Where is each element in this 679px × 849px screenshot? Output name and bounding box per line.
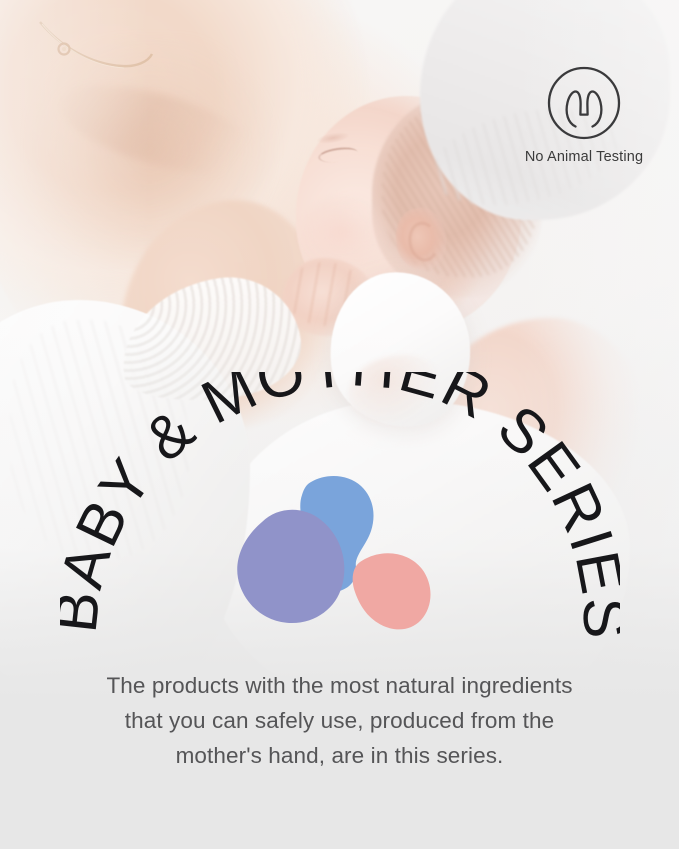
tagline-line-3: mother's hand, are in this series. xyxy=(40,738,639,773)
product-poster: No Animal Testing BABY & MOTHER SERIES T… xyxy=(0,0,679,849)
tagline-line-1: The products with the most natural ingre… xyxy=(40,668,639,703)
salmon-blob xyxy=(353,553,431,629)
bunny-ears-in-circle-icon xyxy=(545,64,623,142)
tagline-line-2: that you can safely use, produced from t… xyxy=(40,703,639,738)
no-animal-testing-badge: No Animal Testing xyxy=(508,64,660,165)
tagline: The products with the most natural ingre… xyxy=(0,668,679,773)
no-animal-testing-label: No Animal Testing xyxy=(508,149,660,165)
baby-and-mother-series-logo xyxy=(228,466,438,636)
